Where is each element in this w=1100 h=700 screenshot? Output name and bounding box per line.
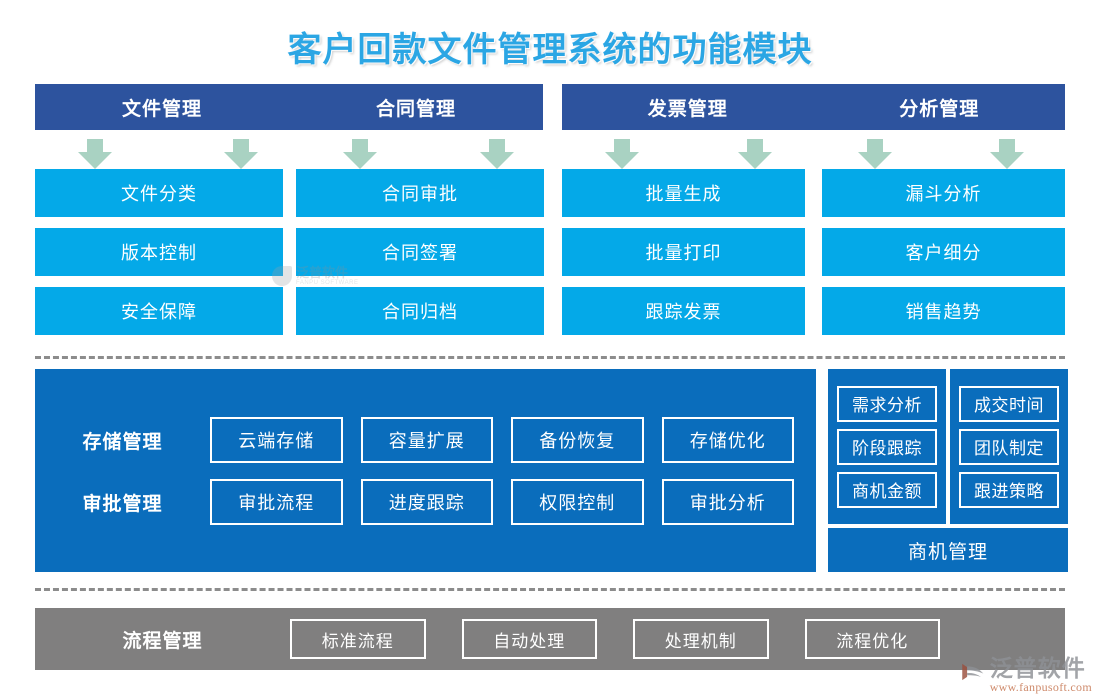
down-arrow-icon <box>480 139 514 169</box>
section-divider-bottom <box>35 588 1065 591</box>
fanpu-logo-icon <box>959 659 985 685</box>
opportunity-box-closing-time[interactable]: 成交时间 <box>959 386 1059 422</box>
module-box-batch-printing[interactable]: 批量打印 <box>562 228 805 276</box>
opportunity-box-followup-strategy[interactable]: 跟进策略 <box>959 472 1059 508</box>
feature-box-progress-tracking[interactable]: 进度跟踪 <box>361 479 494 525</box>
storage-management-label: 存储管理 <box>35 427 210 454</box>
feature-box-approval-analysis[interactable]: 审批分析 <box>662 479 795 525</box>
down-arrow-icon <box>224 139 258 169</box>
header-bar-right: 发票管理 分析管理 <box>562 84 1065 130</box>
watermark-label-en: FANPU SOFTWARE <box>296 280 358 286</box>
module-box-customer-segmentation[interactable]: 客户细分 <box>822 228 1065 276</box>
module-box-contract-archiving[interactable]: 合同归档 <box>296 287 544 335</box>
process-box-standard-process[interactable]: 标准流程 <box>290 619 426 659</box>
approval-management-label: 审批管理 <box>35 489 210 516</box>
header-bar-left: 文件管理 合同管理 <box>35 84 543 130</box>
process-box-process-optimization[interactable]: 流程优化 <box>805 619 941 659</box>
opportunity-column-right: 成交时间 团队制定 跟进策略 <box>950 369 1068 524</box>
module-box-security-assurance[interactable]: 安全保障 <box>35 287 283 335</box>
header-cell-invoice-management[interactable]: 发票管理 <box>562 94 814 121</box>
brand-url: www.fanpusoft.com <box>990 681 1092 694</box>
module-box-invoice-tracking[interactable]: 跟踪发票 <box>562 287 805 335</box>
feature-box-backup-recovery[interactable]: 备份恢复 <box>511 417 644 463</box>
feature-box-cloud-storage[interactable]: 云端存储 <box>210 417 343 463</box>
process-box-handling-mechanism[interactable]: 处理机制 <box>633 619 769 659</box>
infographic-canvas: 客户回款文件管理系统的功能模块 文件管理 合同管理 发票管理 分析管理 文件分类… <box>0 0 1100 700</box>
brand-name: 泛普软件 <box>990 656 1092 681</box>
opportunity-box-demand-analysis[interactable]: 需求分析 <box>837 386 937 422</box>
opportunity-box-team-planning[interactable]: 团队制定 <box>959 429 1059 465</box>
header-cell-contract-management[interactable]: 合同管理 <box>289 94 543 121</box>
page-title: 客户回款文件管理系统的功能模块 <box>0 22 1100 71</box>
module-box-contract-approval[interactable]: 合同审批 <box>296 169 544 217</box>
process-box-automatic-handling[interactable]: 自动处理 <box>462 619 598 659</box>
section-divider-top <box>35 356 1065 359</box>
brand-logo: 泛普软件 www.fanpusoft.com <box>959 656 1092 694</box>
down-arrow-icon <box>858 139 892 169</box>
opportunity-management-footer[interactable]: 商机管理 <box>828 528 1068 572</box>
process-management-panel: 流程管理 标准流程 自动处理 处理机制 流程优化 <box>35 608 1065 670</box>
opportunity-column-left: 需求分析 阶段跟踪 商机金额 <box>828 369 946 524</box>
down-arrow-icon <box>990 139 1024 169</box>
module-box-contract-signing[interactable]: 合同签署 <box>296 228 544 276</box>
down-arrow-icon <box>738 139 772 169</box>
feature-box-approval-workflow[interactable]: 审批流程 <box>210 479 343 525</box>
module-box-version-control[interactable]: 版本控制 <box>35 228 283 276</box>
module-box-funnel-analysis[interactable]: 漏斗分析 <box>822 169 1065 217</box>
down-arrow-icon <box>605 139 639 169</box>
approval-management-row: 审批管理 审批流程 进度跟踪 权限控制 审批分析 <box>35 479 816 525</box>
process-management-label: 流程管理 <box>35 626 290 653</box>
down-arrow-icon <box>78 139 112 169</box>
feature-box-permission-control[interactable]: 权限控制 <box>511 479 644 525</box>
storage-approval-panel: 存储管理 云端存储 容量扩展 备份恢复 存储优化 审批管理 审批流程 进度跟踪 … <box>35 369 816 572</box>
module-box-file-classification[interactable]: 文件分类 <box>35 169 283 217</box>
feature-box-capacity-expansion[interactable]: 容量扩展 <box>361 417 494 463</box>
opportunity-box-stage-tracking[interactable]: 阶段跟踪 <box>837 429 937 465</box>
opportunity-box-opportunity-amount[interactable]: 商机金额 <box>837 472 937 508</box>
down-arrow-icon <box>343 139 377 169</box>
header-cell-file-management[interactable]: 文件管理 <box>35 94 289 121</box>
module-box-sales-trend[interactable]: 销售趋势 <box>822 287 1065 335</box>
feature-box-storage-optimization[interactable]: 存储优化 <box>662 417 795 463</box>
module-box-batch-generation[interactable]: 批量生成 <box>562 169 805 217</box>
storage-management-row: 存储管理 云端存储 容量扩展 备份恢复 存储优化 <box>35 417 816 463</box>
header-cell-analysis-management[interactable]: 分析管理 <box>814 94 1066 121</box>
